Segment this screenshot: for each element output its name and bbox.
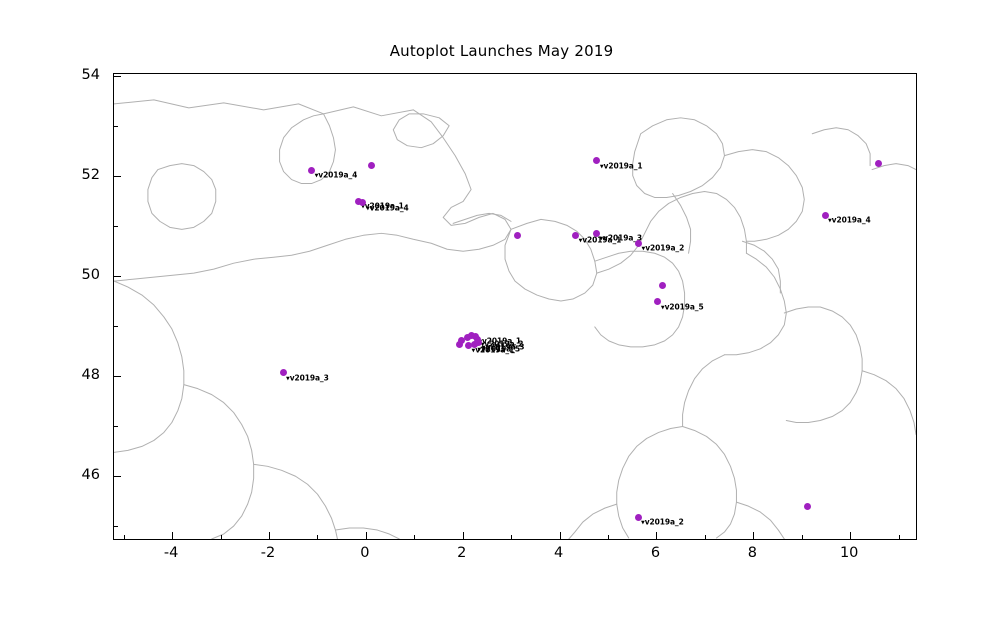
scatter-point [875, 160, 882, 167]
point-label: ▾v2019a_4 [366, 203, 409, 212]
x-tick [172, 532, 173, 539]
x-tick [608, 535, 609, 539]
x-tick-label: 8 [748, 545, 757, 561]
y-tick-label: 48 [0, 367, 100, 383]
x-tick [221, 535, 222, 539]
map-plot-area: ▾v2019a_4▾v2019a_1▾v2019a_4▾v2019a_1▾v20… [113, 73, 917, 540]
page-title: Autoplot Launches May 2019 [0, 42, 1003, 60]
x-tick [850, 532, 851, 539]
point-label: ▾v2019a_2 [641, 518, 684, 527]
x-tick [511, 535, 512, 539]
point-label: ▾v2019a_5 [661, 302, 704, 311]
x-tick-label: -4 [164, 545, 178, 561]
y-tick [114, 176, 121, 177]
x-tick [414, 535, 415, 539]
y-tick-label: 46 [0, 467, 100, 483]
x-tick-label: -2 [261, 545, 275, 561]
y-tick [114, 376, 121, 377]
x-tick [269, 532, 270, 539]
x-tick-label: 2 [457, 545, 466, 561]
scatter-points-layer: ▾v2019a_4▾v2019a_1▾v2019a_4▾v2019a_1▾v20… [114, 74, 916, 539]
point-label: ▾v2019a_2 [642, 244, 685, 253]
x-tick-label: 10 [840, 545, 858, 561]
point-label: ▾v2019a_3 [286, 373, 329, 382]
figure-canvas: Autoplot Launches May 2019 [0, 0, 1003, 633]
y-tick [114, 226, 118, 227]
x-tick-label: 0 [360, 545, 369, 561]
y-tick [114, 426, 118, 427]
x-tick [656, 532, 657, 539]
point-label: ▾v2019a_4 [315, 171, 358, 180]
y-tick [114, 476, 121, 477]
y-tick [114, 276, 121, 277]
y-tick-label: 54 [0, 67, 100, 83]
x-tick-label: 4 [554, 545, 563, 561]
x-tick [124, 535, 125, 539]
x-tick [705, 535, 706, 539]
point-label: ▾v2019a_4 [828, 216, 871, 225]
point-label: ▾v2019a_1 [600, 161, 643, 170]
y-tick-label: 52 [0, 167, 100, 183]
scatter-point [514, 232, 521, 239]
x-tick-label: 6 [651, 545, 660, 561]
y-tick [114, 76, 121, 77]
scatter-point [368, 162, 375, 169]
scatter-point [456, 341, 463, 348]
scatter-point [804, 503, 811, 510]
point-label: ▾v2019a_1 [472, 346, 515, 355]
y-tick [114, 126, 118, 127]
y-tick-label: 50 [0, 267, 100, 283]
x-tick [899, 535, 900, 539]
y-tick [114, 326, 118, 327]
x-tick [802, 535, 803, 539]
y-tick [114, 526, 118, 527]
x-tick [463, 532, 464, 539]
x-tick [317, 535, 318, 539]
scatter-point [659, 282, 666, 289]
x-tick [560, 532, 561, 539]
x-tick [753, 532, 754, 539]
x-tick [366, 532, 367, 539]
